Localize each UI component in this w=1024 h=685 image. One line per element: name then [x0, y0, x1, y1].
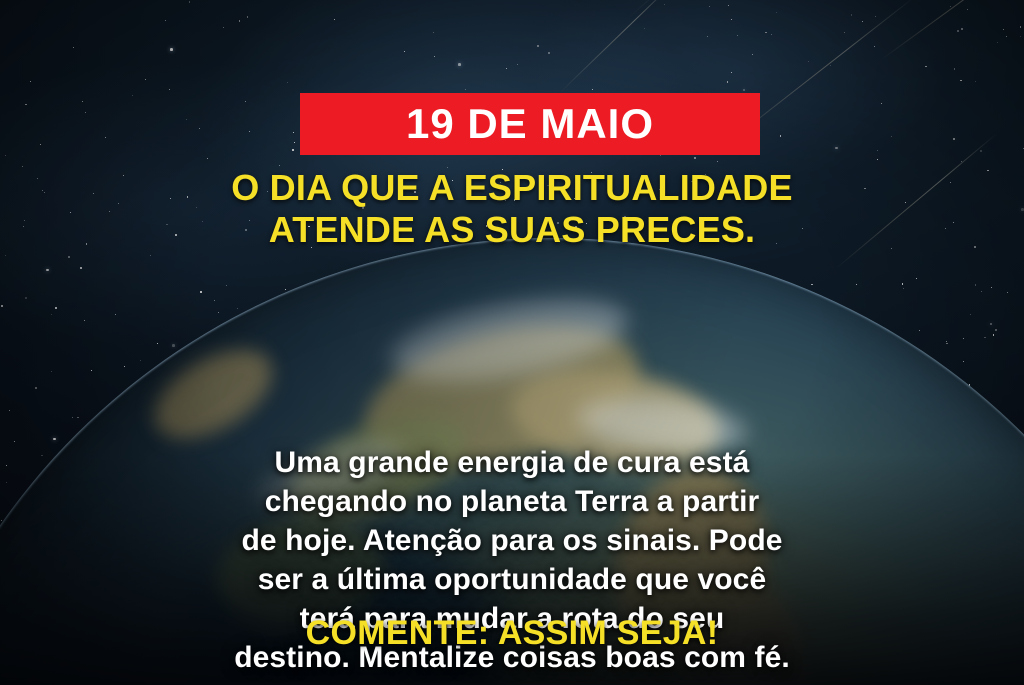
star — [737, 35, 738, 36]
star — [877, 159, 878, 160]
star — [717, 161, 718, 162]
star — [465, 89, 466, 90]
star — [743, 89, 746, 92]
date-banner-label: 19 DE MAIO — [406, 103, 654, 145]
star — [765, 32, 766, 33]
star — [960, 80, 962, 82]
headline-line-2: ATENDE AS SUAS PRECES. — [40, 209, 984, 251]
star — [105, 137, 106, 138]
star — [293, 132, 294, 133]
headline-line-1: O DIA QUE A ESPIRITUALIDADE — [40, 167, 984, 209]
star — [132, 95, 133, 96]
star — [835, 147, 838, 150]
star — [145, 79, 146, 80]
star — [223, 27, 224, 28]
poster-canvas: 19 DE MAIO O DIA QUE A ESPIRITUALIDADE A… — [0, 0, 1024, 685]
star — [731, 72, 732, 73]
star — [169, 89, 170, 90]
star — [1020, 26, 1021, 27]
star — [728, 5, 729, 6]
star — [207, 158, 208, 159]
star — [25, 104, 26, 105]
star — [844, 32, 845, 33]
star — [82, 101, 83, 102]
star — [404, 51, 405, 52]
star — [752, 54, 753, 55]
call-to-action-label: COMENTE: ASSIM SEJA! — [306, 614, 719, 652]
star — [975, 81, 976, 82]
star — [30, 81, 31, 82]
star — [997, 42, 998, 43]
body-line-1: Uma grande energia de cura está — [28, 443, 996, 482]
star — [458, 63, 461, 66]
date-banner: 19 DE MAIO — [300, 93, 760, 155]
star — [506, 68, 507, 69]
star — [891, 136, 892, 137]
star — [433, 32, 434, 33]
star — [247, 16, 248, 17]
star — [776, 12, 777, 13]
star — [961, 28, 963, 30]
star — [294, 142, 295, 143]
star — [73, 47, 74, 48]
body-line-3: de hoje. Atenção para os sinais. Pode — [28, 521, 996, 560]
star — [245, 101, 246, 102]
star — [877, 150, 878, 151]
star — [830, 65, 831, 66]
meteor-streak — [880, 0, 1018, 61]
star — [953, 138, 955, 140]
star — [862, 21, 863, 22]
star — [954, 68, 956, 70]
star — [957, 30, 958, 31]
star — [808, 61, 809, 62]
star — [874, 46, 875, 47]
star — [279, 165, 280, 166]
star — [780, 135, 781, 136]
star — [249, 131, 250, 132]
star — [925, 66, 927, 68]
headline: O DIA QUE A ESPIRITUALIDADE ATENDE AS SU… — [0, 167, 1024, 251]
star — [709, 6, 710, 7]
star — [727, 81, 729, 83]
star — [189, 1, 190, 2]
star — [1006, 36, 1007, 37]
star — [731, 19, 732, 20]
star — [334, 19, 335, 20]
star — [199, 128, 200, 129]
star — [771, 34, 772, 35]
star — [1003, 29, 1004, 30]
meteor-streak — [560, 0, 676, 93]
body-line-4: ser a última oportunidade que você — [28, 560, 996, 599]
star — [644, 28, 645, 29]
star — [592, 89, 593, 90]
star — [707, 36, 708, 37]
star — [694, 157, 696, 159]
star — [980, 150, 982, 152]
star — [170, 48, 173, 51]
star — [1020, 36, 1021, 37]
star — [40, 144, 41, 145]
star — [967, 9, 968, 10]
star — [881, 103, 882, 104]
star — [664, 4, 665, 5]
meteor-streak — [628, 0, 852, 19]
star — [875, 16, 876, 17]
call-to-action: COMENTE: ASSIM SEJA! — [0, 614, 1024, 653]
star — [548, 52, 550, 54]
star — [517, 64, 518, 65]
star — [85, 112, 86, 113]
star — [186, 119, 187, 120]
star — [5, 155, 6, 156]
star — [287, 82, 288, 83]
star — [165, 20, 166, 21]
star — [537, 45, 539, 47]
body-line-2: chegando no planeta Terra a partir — [28, 482, 996, 521]
star — [851, 14, 852, 15]
star — [239, 20, 240, 21]
star — [292, 149, 294, 151]
star — [434, 56, 435, 57]
